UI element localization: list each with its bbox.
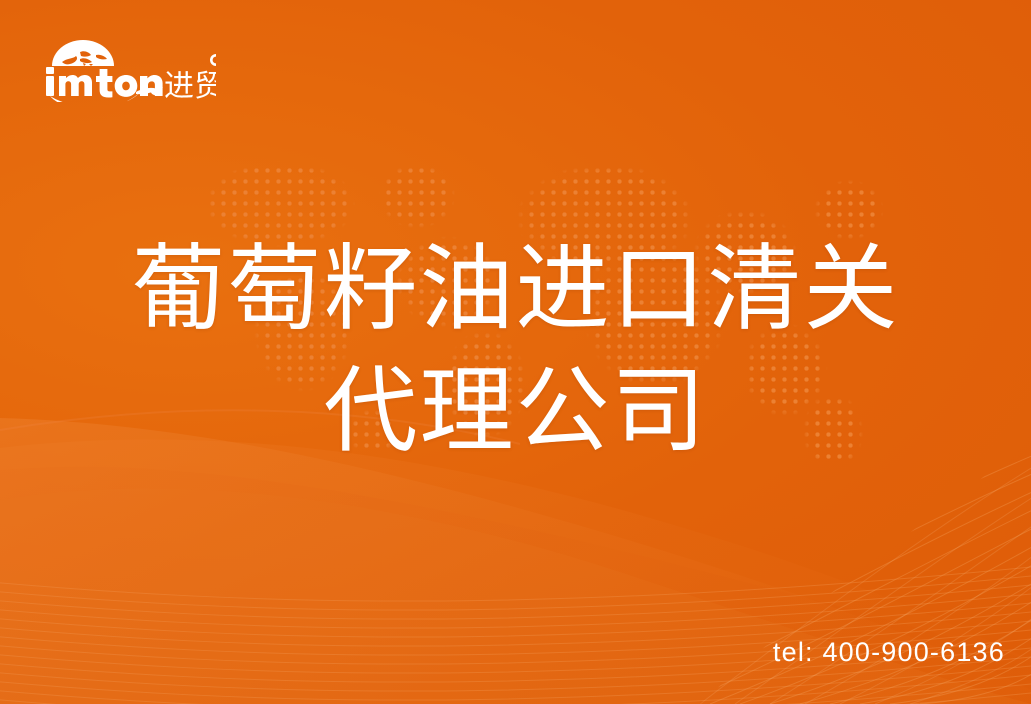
logo-chinese-name: 进贸通 xyxy=(164,69,216,102)
headline-line-1: 葡萄籽油进口清关 xyxy=(0,228,1031,350)
page-title: 葡萄籽油进口清关 代理公司 xyxy=(0,228,1031,472)
contact-phone[interactable]: tel: 400-900-6136 xyxy=(773,637,1005,668)
globe-icon xyxy=(52,40,114,66)
company-logo[interactable]: 进贸通 xyxy=(36,26,216,102)
headline-line-2: 代理公司 xyxy=(0,350,1031,472)
registered-trademark-icon xyxy=(210,54,216,66)
promotional-banner: 进贸通 葡萄籽油进口清关 代理公司 tel: 400-900-6136 xyxy=(0,0,1031,704)
